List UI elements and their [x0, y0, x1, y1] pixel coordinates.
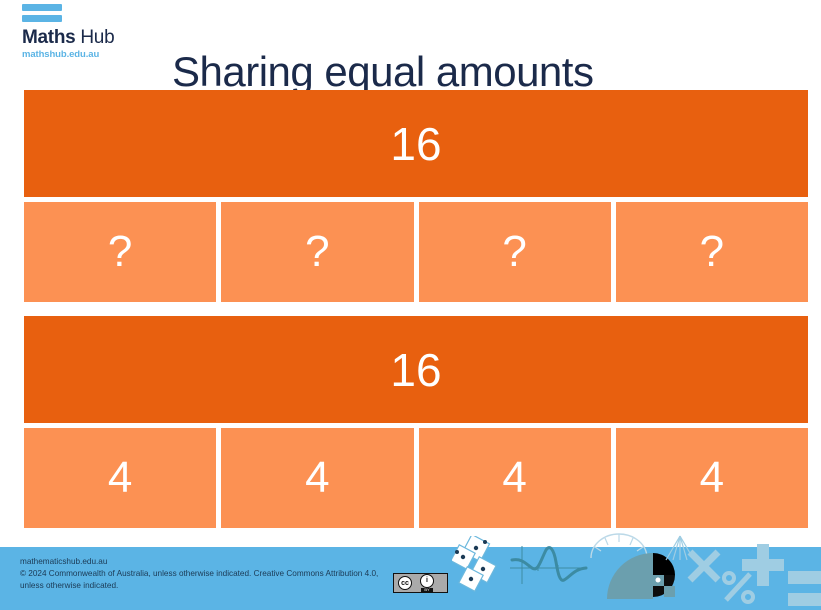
part-cell-unsolved-3[interactable]: ? — [419, 202, 611, 302]
part-cell-unsolved-4[interactable]: ? — [616, 202, 808, 302]
cc-by-group: i BY — [420, 574, 434, 593]
footer-site-url: mathematicshub.edu.au — [20, 556, 400, 568]
page-header: Maths Hub mathshub.edu.au Sharing equal … — [0, 0, 821, 88]
part-cell-solved-2[interactable]: 4 — [221, 428, 413, 528]
maths-hub-logo: Maths Hub mathshub.edu.au — [22, 4, 132, 60]
parts-row-unsolved: ? ? ? ? — [24, 202, 808, 302]
cc-icon: cc — [398, 576, 412, 590]
footer-copyright-line1: © 2024 Commonwealth of Australia, unless… — [20, 569, 378, 578]
bar-model-unsolved: 16 ? ? ? ? — [24, 90, 808, 302]
logo-url: mathshub.edu.au — [22, 50, 132, 60]
part-cell-solved-3[interactable]: 4 — [419, 428, 611, 528]
part-cell-solved-4[interactable]: 4 — [616, 428, 808, 528]
footer-attribution: mathematicshub.edu.au © 2024 Commonwealt… — [20, 556, 400, 592]
parts-row-solved: 4 4 4 4 — [24, 428, 808, 528]
cc-by-label: BY — [421, 588, 432, 593]
bar-model-container: 16 ? ? ? ? 16 4 4 4 4 — [24, 90, 808, 528]
logo-brand-secondary: Hub — [75, 27, 114, 48]
part-cell-solved-1[interactable]: 4 — [24, 428, 216, 528]
part-cell-unsolved-2[interactable]: ? — [221, 202, 413, 302]
logo-wordmark: Maths Hub — [22, 28, 132, 47]
whole-bar-unsolved: 16 — [24, 90, 808, 197]
logo-brand-primary: Maths — [22, 27, 75, 48]
logo-bar-top — [22, 4, 62, 11]
whole-bar-solved: 16 — [24, 316, 808, 423]
bar-model-solved: 16 4 4 4 4 — [24, 316, 808, 528]
creative-commons-badge[interactable]: cc i BY — [393, 573, 448, 593]
cc-by-person-icon: i — [420, 574, 434, 588]
logo-equals-icon — [22, 4, 62, 22]
logo-bar-bottom — [22, 15, 62, 22]
part-cell-unsolved-1[interactable]: ? — [24, 202, 216, 302]
footer-copyright-line2: unless otherwise indicated. — [20, 581, 118, 590]
